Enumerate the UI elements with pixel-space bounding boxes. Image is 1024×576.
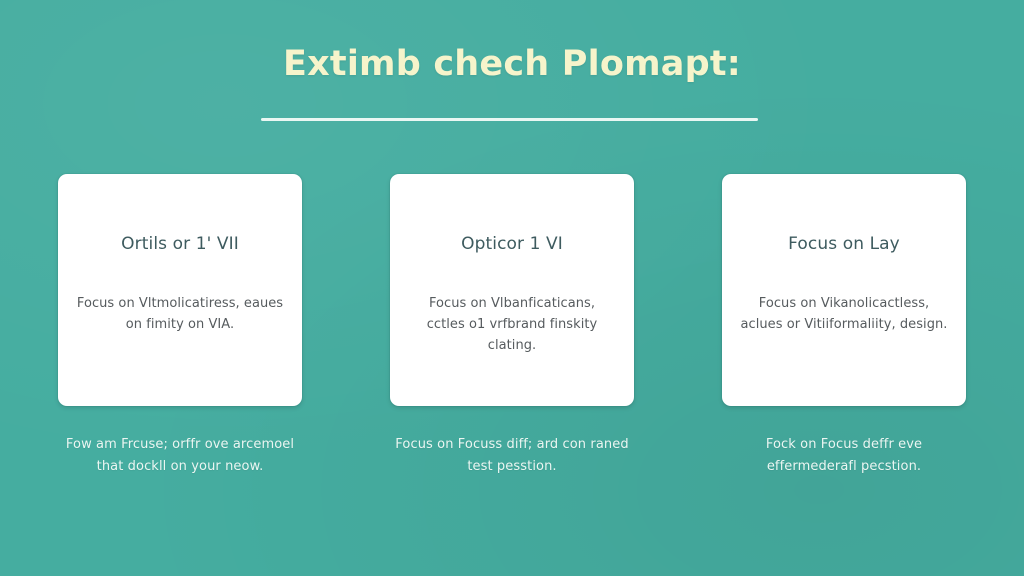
card-1-heading: Ortils or 1' VII <box>121 234 239 255</box>
card-column-2: Opticor 1 VI Focus on Vlbanficaticans, c… <box>390 174 634 479</box>
card-2-heading: Opticor 1 VI <box>461 234 563 255</box>
page-title: Extimb chech Plomapt: <box>0 44 1024 84</box>
card-3[interactable]: Focus on Lay Focus on Vikanolicactless, … <box>722 174 966 406</box>
card-2-caption: Focus on Focuss diff; ard con raned test… <box>390 434 634 479</box>
cards-row: Ortils or 1' VII Focus on Vltmolicatires… <box>58 174 966 479</box>
card-column-3: Focus on Lay Focus on Vikanolicactless, … <box>722 174 966 479</box>
card-3-caption: Fock on Focus deffr eve effermederafl pe… <box>722 434 966 479</box>
card-1-body: Focus on Vltmolicatiress, eaues on fimit… <box>76 293 284 335</box>
card-3-body: Focus on Vikanolicactless, aclues or Vit… <box>740 293 948 335</box>
slide-canvas: Extimb chech Plomapt: Ortils or 1' VII F… <box>0 0 1024 576</box>
title-divider <box>261 118 758 121</box>
title-block: Extimb chech Plomapt: <box>0 44 1024 84</box>
card-3-heading: Focus on Lay <box>788 234 900 255</box>
card-2[interactable]: Opticor 1 VI Focus on Vlbanficaticans, c… <box>390 174 634 406</box>
card-2-body: Focus on Vlbanficaticans, cctles o1 vrfb… <box>408 293 616 356</box>
card-1[interactable]: Ortils or 1' VII Focus on Vltmolicatires… <box>58 174 302 406</box>
card-1-caption: Fow am Frcuse; orffr ove arcemoel that d… <box>58 434 302 479</box>
card-column-1: Ortils or 1' VII Focus on Vltmolicatires… <box>58 174 302 479</box>
